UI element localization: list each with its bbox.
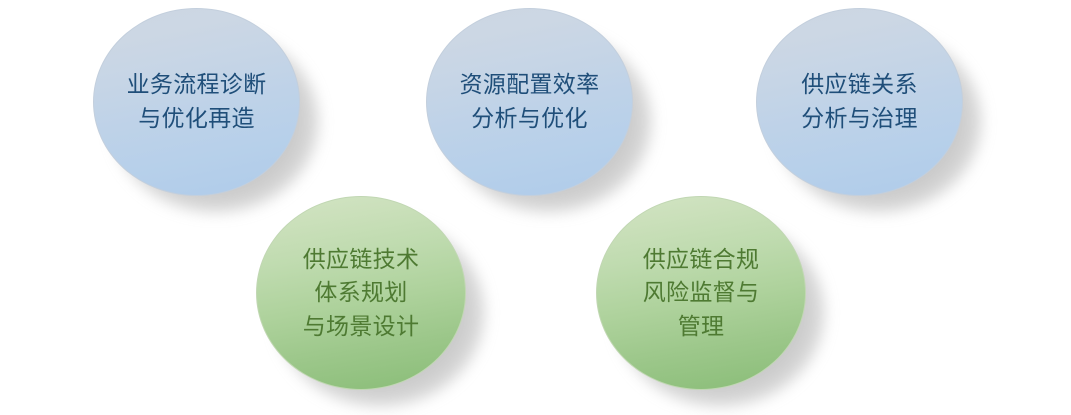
bubble-label-business-process: 业务流程诊断 与优化再造 (127, 68, 267, 135)
bubble-label-resource-allocation: 资源配置效率 分析与优化 (460, 68, 600, 135)
bubble-supply-chain-relations[interactable]: 供应链关系 分析与治理 (756, 8, 963, 196)
bubble-label-technology-architecture: 供应链技术 体系规划 与场景设计 (303, 243, 420, 344)
bubble-business-process[interactable]: 业务流程诊断 与优化再造 (93, 8, 300, 196)
bubble-label-compliance-risk: 供应链合规 风险监督与 管理 (643, 243, 760, 344)
bubble-resource-allocation[interactable]: 资源配置效率 分析与优化 (426, 8, 633, 196)
diagram-canvas: 业务流程诊断 与优化再造 资源配置效率 分析与优化 供应链关系 分析与治理 供应… (0, 0, 1071, 415)
bubble-compliance-risk[interactable]: 供应链合规 风险监督与 管理 (596, 196, 806, 390)
bubble-label-supply-chain-relations: 供应链关系 分析与治理 (801, 68, 918, 135)
bubble-technology-architecture[interactable]: 供应链技术 体系规划 与场景设计 (256, 196, 466, 390)
